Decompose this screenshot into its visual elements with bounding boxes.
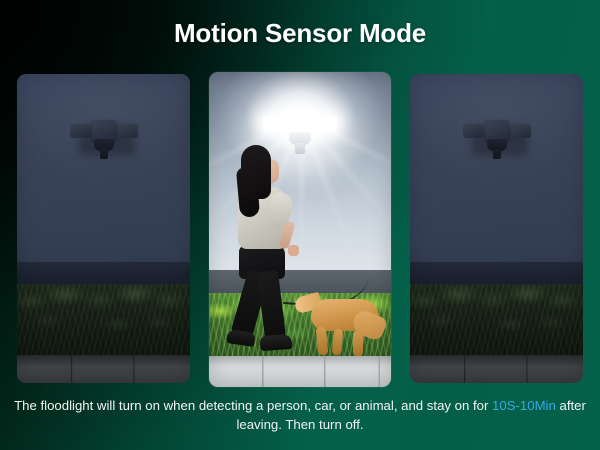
floodlight-head-right xyxy=(316,116,337,131)
night-wall xyxy=(410,74,583,262)
panel-center-light-on xyxy=(209,72,391,387)
person-leg-front xyxy=(257,270,286,340)
night-hedge xyxy=(17,284,190,361)
floodlight-head-center xyxy=(92,120,116,141)
floodlight-head-right xyxy=(118,124,138,138)
panel-right-light-off xyxy=(410,74,583,383)
floodlight-head-right xyxy=(511,124,531,138)
floodlight-head-center xyxy=(287,111,313,134)
panel-left-light-off xyxy=(17,74,190,383)
person-hair-strand xyxy=(236,166,260,218)
floodlight-off-right xyxy=(463,120,531,164)
night-hedge xyxy=(410,284,583,361)
night-sidewalk xyxy=(17,355,190,383)
floodlight-head-center xyxy=(485,120,509,141)
dog-golden-retriever xyxy=(295,283,387,361)
caption: The floodlight will turn on when detecti… xyxy=(14,396,586,434)
dog-leg-mid xyxy=(332,329,344,356)
night-wall xyxy=(17,74,190,262)
night-sidewalk xyxy=(410,355,583,383)
floodlight-head-left xyxy=(463,124,483,138)
page-title: Motion Sensor Mode xyxy=(0,18,600,49)
caption-highlight-duration: 10S-10Min xyxy=(492,398,556,413)
floodlight-off-left xyxy=(70,120,138,164)
floodlight-mount xyxy=(100,149,108,159)
floodlight-head-left xyxy=(263,116,284,131)
person-shoe-front xyxy=(260,334,293,351)
caption-text-part1: The floodlight will turn on when detecti… xyxy=(14,398,492,413)
floodlight-mount xyxy=(493,149,501,159)
floodlight-head-left xyxy=(70,124,90,138)
